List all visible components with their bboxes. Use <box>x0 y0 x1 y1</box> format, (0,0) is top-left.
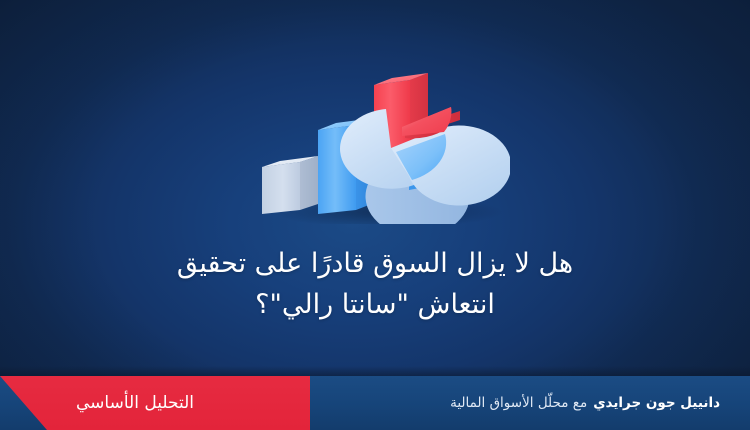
bottom-bar-shadow <box>0 366 750 376</box>
page-title: هل لا يزال السوق قادرًا على تحقيق انتعاش… <box>0 243 750 325</box>
bar-small <box>262 156 318 214</box>
author-credit-prefix: مع محلّل الأسواق المالية <box>450 395 587 411</box>
category-label: التحليل الأساسي <box>0 376 270 430</box>
author-name: دانييل جون جرايدي <box>593 395 720 411</box>
promo-card: هل لا يزال السوق قادرًا على تحقيق انتعاش… <box>0 0 750 430</box>
headline-line-1: هل لا يزال السوق قادرًا على تحقيق <box>0 243 750 284</box>
chart-illustration <box>248 52 510 224</box>
bottom-bar: التحليل الأساسي دانييل جون جرايدي مع محل… <box>0 376 750 430</box>
headline-line-2: انتعاش "سانتا رالي"؟ <box>0 284 750 325</box>
author-credit: دانييل جون جرايدي مع محلّل الأسواق المال… <box>450 376 720 430</box>
